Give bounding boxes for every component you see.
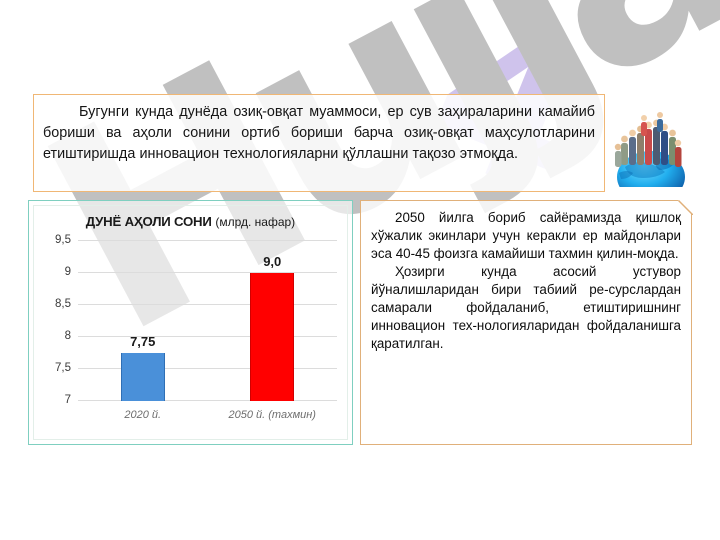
chart-gridline: 9: [78, 272, 337, 273]
chart-gridline: 7: [78, 400, 337, 401]
chart-bar-fill: [250, 273, 294, 401]
chart-gridline: 8: [78, 336, 337, 337]
right-box-paragraph-1: 2050 йилга бориб сайёрамизда қишлоқ хўжа…: [371, 209, 681, 262]
right-text-box: 2050 йилга бориб сайёрамизда қишлоқ хўжа…: [360, 200, 692, 445]
chart-bar: 9,02050 й. (тахмин): [250, 273, 294, 401]
chart-gridline: 8,5: [78, 304, 337, 305]
y-axis-tick-label: 8,5: [55, 298, 71, 310]
right-box-paragraph-2: Ҳозирги кунда асосий устувор йўналишлари…: [371, 263, 681, 352]
y-axis-tick-label: 7: [65, 394, 71, 406]
top-text-box: Бугунги кунда дунёда озиқ-овқат муаммоси…: [33, 94, 605, 192]
chart-bar: 7,752020 й.: [121, 353, 165, 401]
chart-bar-value-label: 9,0: [263, 254, 281, 269]
chart-title: ДУНЁ АҲОЛИ СОНИ (млрд. нафар): [34, 214, 347, 229]
chart-plot-area: 77,588,599,57,752020 й.9,02050 й. (тахми…: [78, 241, 337, 401]
right-box-paragraphs: 2050 йилга бориб сайёрамизда қишлоқ хўжа…: [360, 200, 692, 353]
y-axis-tick-label: 9: [65, 266, 71, 278]
chart-gridline: 9,5: [78, 240, 337, 241]
y-axis-tick-label: 8: [65, 330, 71, 342]
chart-bar-fill: [121, 353, 165, 401]
y-axis-tick-label: 9,5: [55, 234, 71, 246]
people-on-globe-image: [607, 103, 695, 187]
chart-title-main: ДУНЁ АҲОЛИ СОНИ: [86, 214, 212, 229]
top-box-paragraph: Бугунги кунда дунёда озиқ-овқат муаммоси…: [34, 95, 604, 165]
x-axis-tick-label: 2050 й. (тахмин): [229, 409, 316, 421]
chart-title-units: (млрд. нафар): [215, 215, 295, 229]
chart-gridline: 7,5: [78, 368, 337, 369]
chart-container: ДУНЁ АҲОЛИ СОНИ (млрд. нафар) 77,588,599…: [28, 200, 353, 445]
chart-inner-frame: ДУНЁ АҲОЛИ СОНИ (млрд. нафар) 77,588,599…: [33, 205, 348, 440]
y-axis-tick-label: 7,5: [55, 362, 71, 374]
chart-bar-value-label: 7,75: [130, 334, 155, 349]
x-axis-tick-label: 2020 й.: [124, 409, 161, 421]
